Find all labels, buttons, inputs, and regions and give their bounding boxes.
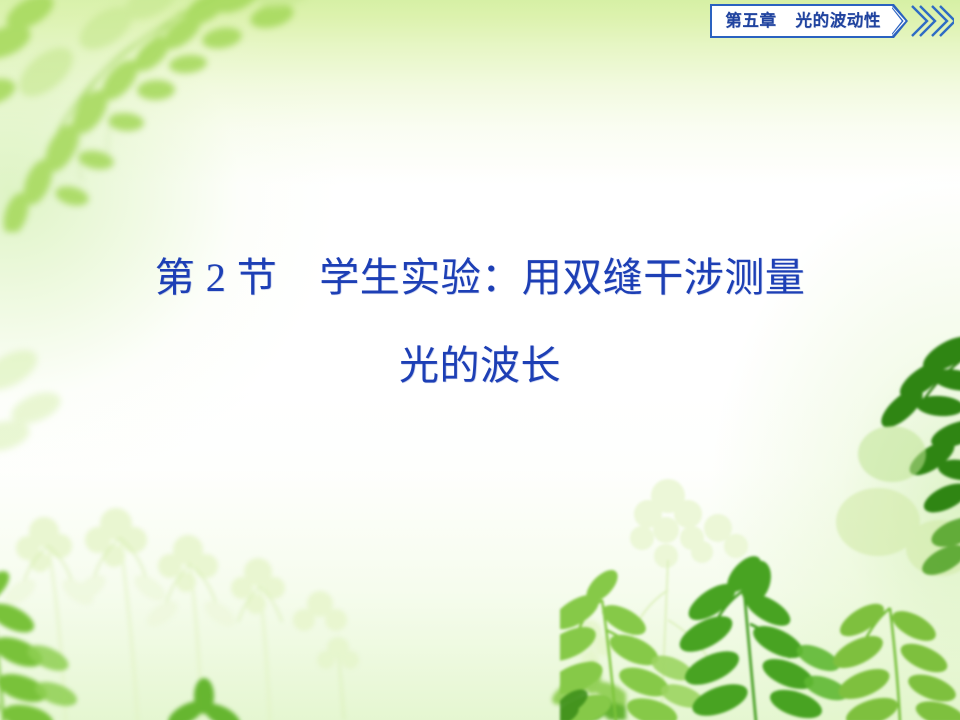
page-title-line-1: 第 2 节 学生实验：用双缝干涉测量: [0, 258, 960, 298]
chapter-banner: 第五章 光的波动性: [710, 4, 954, 38]
double-chevron-right-icon: [910, 4, 954, 38]
page-title: 第 2 节 学生实验：用双缝干涉测量 光的波长: [0, 258, 960, 386]
background-tint-right: [660, 150, 960, 720]
page-title-line-2: 光的波长: [0, 346, 960, 386]
chapter-banner-label: 第五章 光的波动性: [725, 13, 881, 30]
slide-canvas: 第五章 光的波动性 第 2 节 学生实验：用双缝干涉测量 光的波长: [0, 0, 960, 720]
chapter-banner-box: 第五章 光的波动性: [710, 4, 892, 38]
chapter-banner-cap-icon: [892, 4, 909, 38]
